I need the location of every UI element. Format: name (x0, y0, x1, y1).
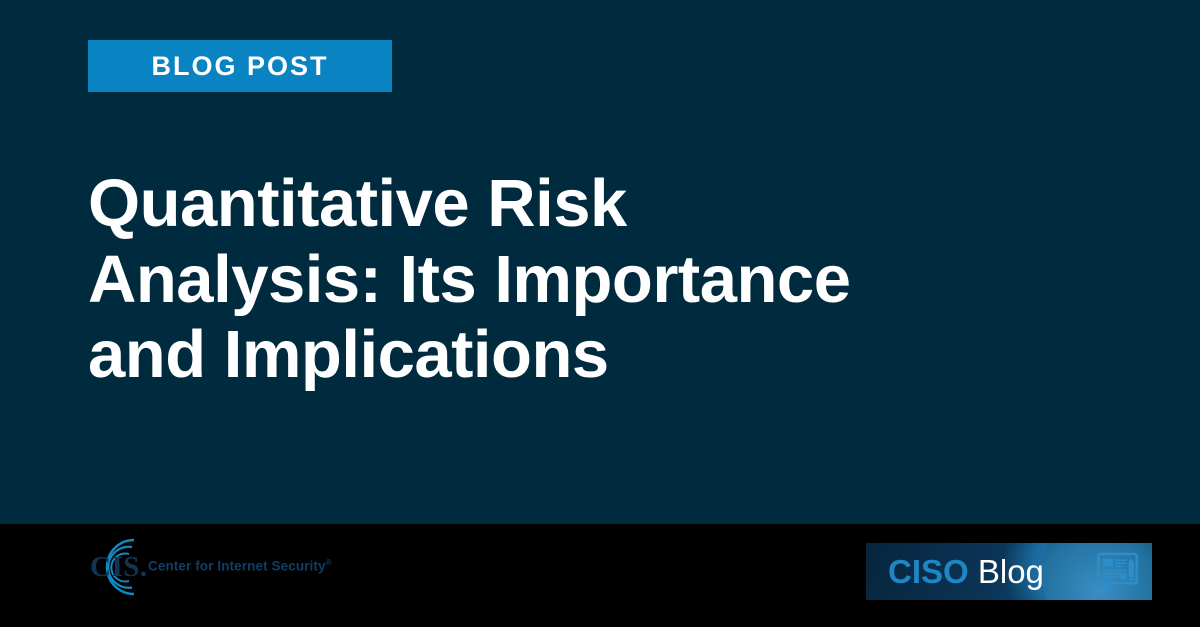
blog-post-badge-label: BLOG POST (151, 53, 328, 80)
cis-tagline-text: Center for Internet Security (148, 559, 326, 574)
cis-wordmark: CIS. (90, 552, 152, 582)
ciso-blog-badge-label: CISO Blog (888, 554, 1044, 589)
cis-tagline-registered-mark: ® (326, 558, 332, 567)
page-title-line-2: Analysis: Its Importance (88, 242, 1098, 318)
page-title-line-1: Quantitative Risk (88, 166, 1098, 242)
page-title: Quantitative Risk Analysis: Its Importan… (88, 166, 1098, 393)
newspaper-speech-bubble-pen-icon (1096, 552, 1138, 592)
hero-section: BLOG POST Quantitative Risk Analysis: It… (0, 0, 1200, 524)
cis-logo: CIS. Center for Internet Security® (72, 534, 362, 600)
blog-post-badge: BLOG POST (88, 40, 392, 92)
page-title-line-3: and Implications (88, 317, 1098, 393)
ciso-word: CISO (888, 553, 969, 590)
blog-post-social-card: BLOG POST Quantitative Risk Analysis: It… (0, 0, 1200, 627)
blog-word: Blog (978, 553, 1044, 590)
cis-tagline: Center for Internet Security® (148, 558, 332, 574)
ciso-blog-badge: CISO Blog (866, 543, 1152, 600)
